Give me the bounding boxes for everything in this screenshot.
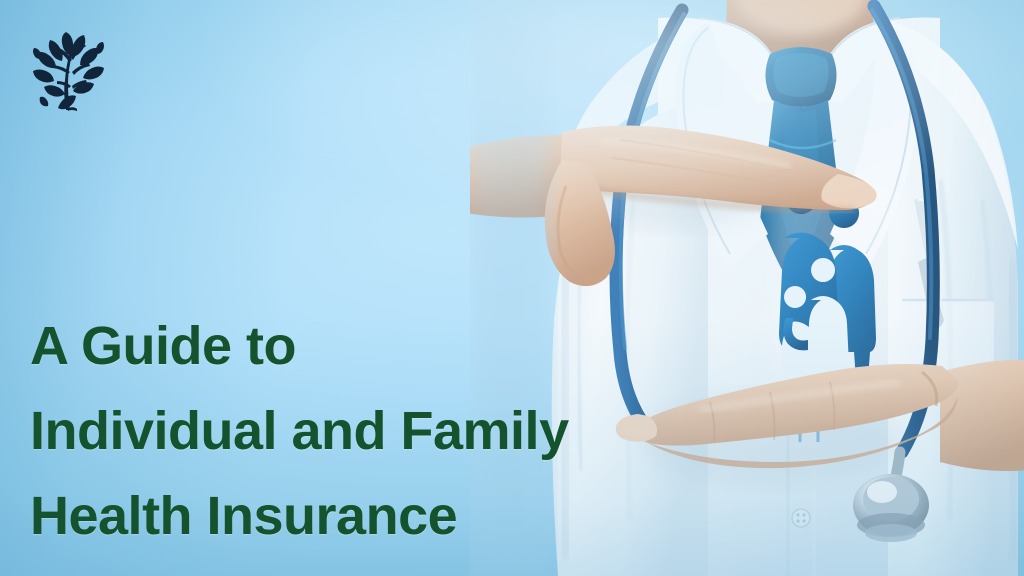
page-title: A Guide to Individual and Family Health …: [30, 304, 730, 559]
tree-logo-icon: [22, 18, 118, 114]
headline-line-2: Individual and Family: [30, 389, 730, 474]
tree-logo[interactable]: [22, 18, 118, 114]
health-insurance-banner: A Guide to Individual and Family Health …: [0, 0, 1024, 576]
headline-line-1: A Guide to: [30, 304, 730, 389]
headline-line-3: Health Insurance: [30, 474, 730, 559]
